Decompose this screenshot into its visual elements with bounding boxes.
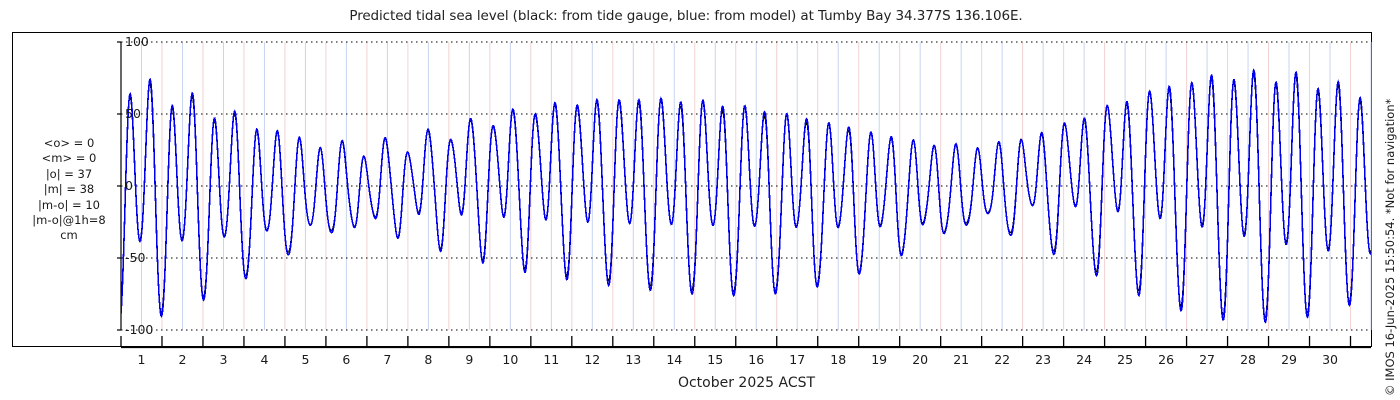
x-axis-ticks <box>121 336 1351 347</box>
x-tick-label: 5 <box>285 352 325 367</box>
x-tick-label: 20 <box>900 352 940 367</box>
x-tick-label: 25 <box>1105 352 1145 367</box>
x-tick-label: 23 <box>1023 352 1063 367</box>
x-tick-label: 7 <box>367 352 407 367</box>
x-tick-label: 12 <box>572 352 612 367</box>
x-tick-label: 9 <box>449 352 489 367</box>
x-tick-label: 17 <box>777 352 817 367</box>
x-tick-label: 10 <box>490 352 530 367</box>
x-tick-label: 13 <box>613 352 653 367</box>
x-tick-label: 19 <box>859 352 899 367</box>
chart-container: Predicted tidal sea level (black: from t… <box>0 0 1400 400</box>
x-tick-label: 2 <box>162 352 202 367</box>
x-tick-label: 27 <box>1187 352 1227 367</box>
copyright-notice: © IMOS 16-Jun-2025 15:50:54. *Not for na… <box>1379 0 1399 400</box>
x-tick-label: 3 <box>203 352 243 367</box>
y-tick-label: -100 <box>125 322 153 337</box>
x-tick-label: 24 <box>1064 352 1104 367</box>
statistics-line: |m-o|@1h=8 <box>14 213 124 228</box>
x-tick-label: 29 <box>1269 352 1309 367</box>
axis-lines <box>121 42 1371 348</box>
x-tick-label: 18 <box>818 352 858 367</box>
statistics-line: <o> = 0 <box>14 136 124 151</box>
statistics-line: cm <box>14 228 124 243</box>
statistics-line: |m-o| = 10 <box>14 198 124 213</box>
x-tick-label: 14 <box>654 352 694 367</box>
x-tick-label: 1 <box>121 352 161 367</box>
x-tick-label: 15 <box>695 352 735 367</box>
x-tick-label: 22 <box>982 352 1022 367</box>
x-tick-label: 4 <box>244 352 284 367</box>
y-tick-label: 100 <box>125 34 149 49</box>
x-tick-label: 28 <box>1228 352 1268 367</box>
x-axis-title: October 2025 ACST <box>121 375 1372 391</box>
y-tick-label: 50 <box>125 106 141 121</box>
data-series-group <box>121 70 1371 322</box>
x-tick-label: 26 <box>1146 352 1186 367</box>
copyright-text: © IMOS 16-Jun-2025 15:50:54. *Not for na… <box>1383 376 1397 396</box>
series-line-model <box>121 70 1371 322</box>
x-tick-label: 6 <box>326 352 366 367</box>
statistics-line: <m> = 0 <box>14 151 124 166</box>
y-tick-label: -50 <box>125 250 145 265</box>
y-tick-label: 0 <box>125 178 133 193</box>
x-tick-label: 11 <box>531 352 571 367</box>
x-tick-label: 16 <box>736 352 776 367</box>
x-tick-label: 8 <box>408 352 448 367</box>
tidal-plot <box>0 0 1400 400</box>
statistics-annotation: <o> = 0<m> = 0|o| = 37|m| = 38|m-o| = 10… <box>14 136 124 244</box>
statistics-line: |o| = 37 <box>14 167 124 182</box>
statistics-line: |m| = 38 <box>14 182 124 197</box>
x-tick-label: 30 <box>1310 352 1350 367</box>
x-tick-label: 21 <box>941 352 981 367</box>
